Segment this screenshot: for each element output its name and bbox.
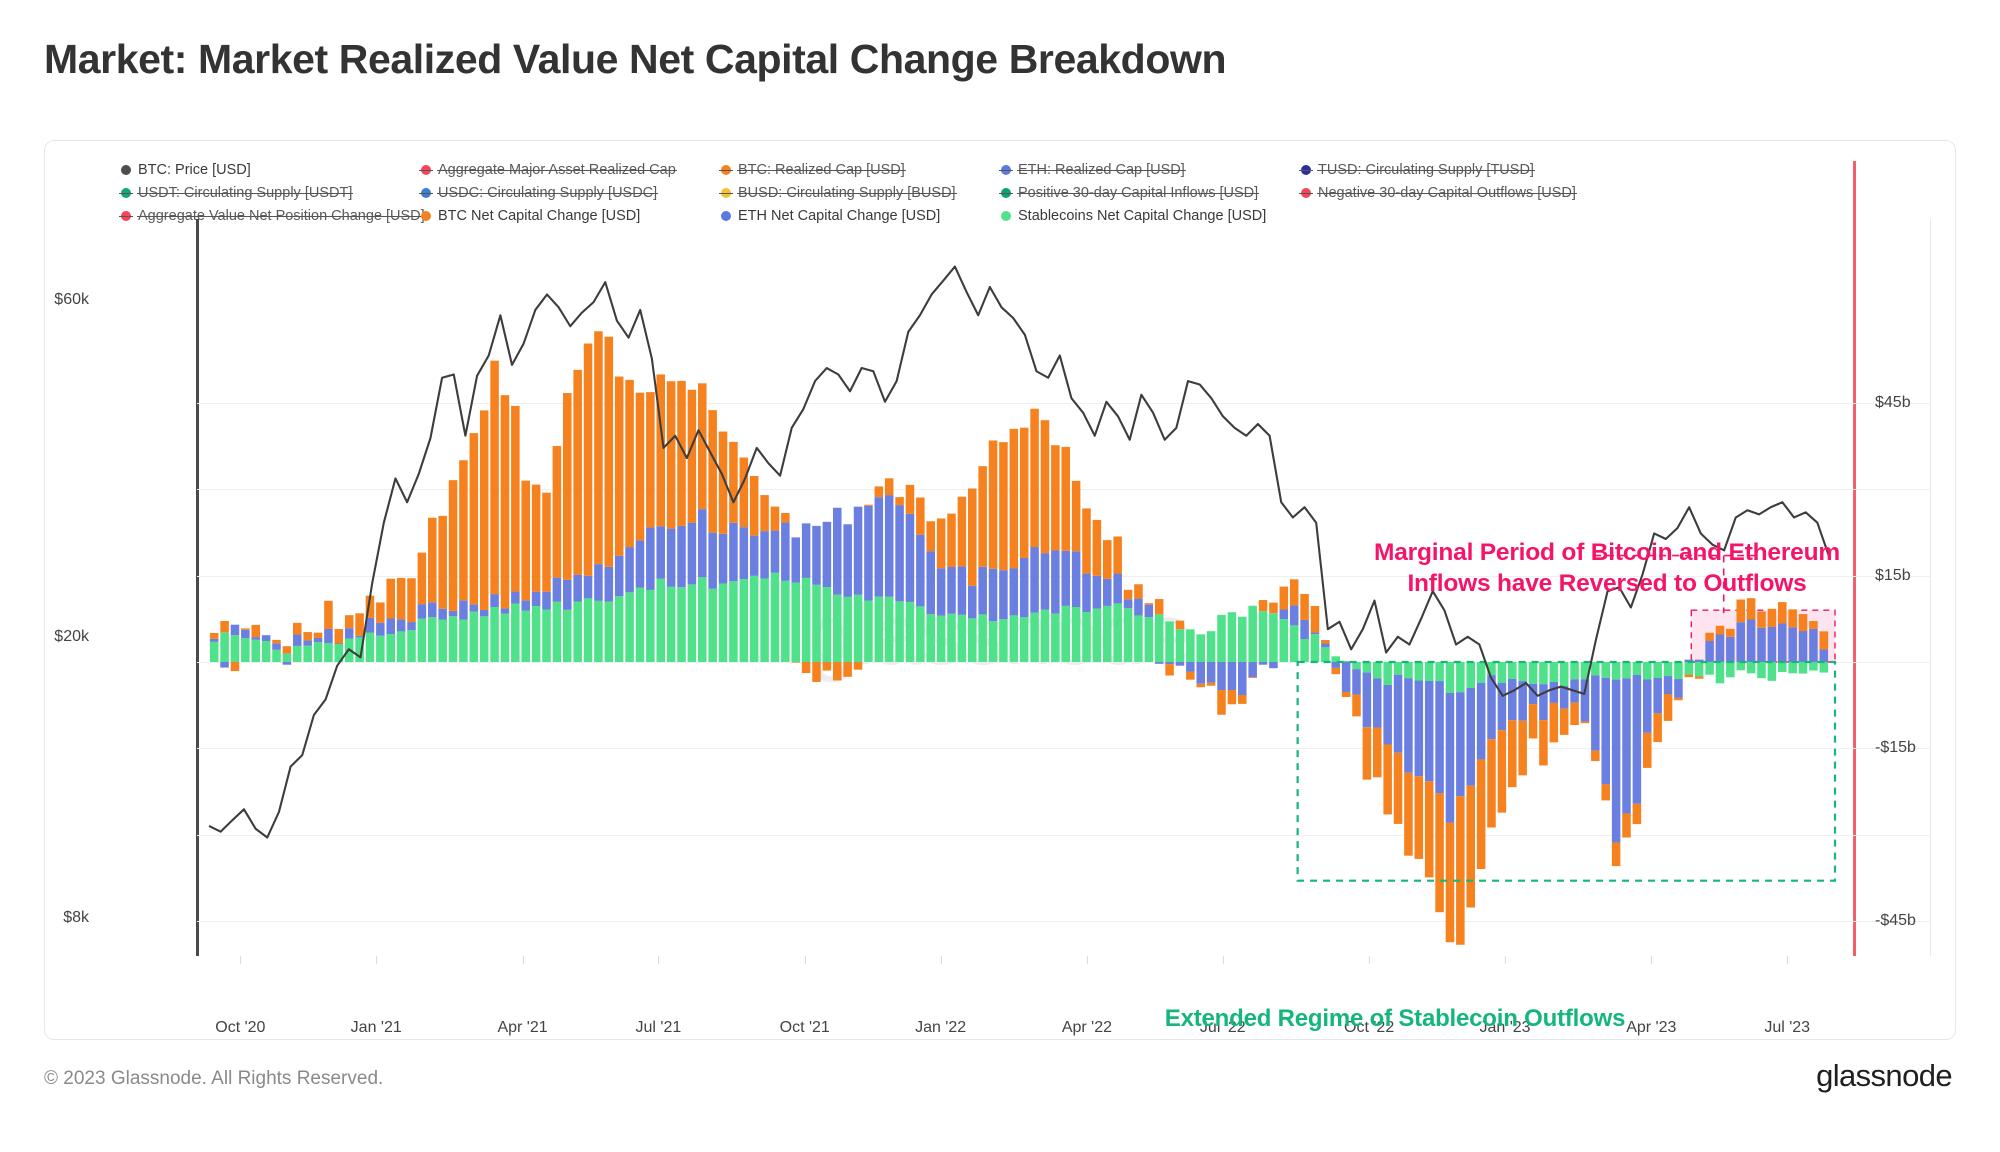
- bar-segment: [1093, 608, 1102, 662]
- bar-segment: [1124, 599, 1133, 608]
- bar-segment: [1155, 599, 1164, 614]
- bar-segment: [906, 485, 915, 514]
- bar-segment: [1010, 568, 1019, 615]
- bar-segment: [532, 592, 541, 606]
- bar-segment: [1487, 739, 1496, 827]
- bar-segment: [397, 631, 406, 662]
- bar-segment: [1591, 675, 1600, 750]
- bar-segment: [324, 601, 333, 629]
- bar-segment: [958, 497, 967, 567]
- bar-segment: [625, 380, 634, 547]
- legend-item-label: USDT: Circulating Supply [USDT]: [138, 185, 352, 201]
- bar-segment: [272, 643, 281, 649]
- bar-segment: [1809, 621, 1818, 629]
- bar-segment: [1311, 606, 1320, 632]
- bar-segment: [1269, 613, 1278, 662]
- bar-segment: [1394, 675, 1403, 753]
- legend-item[interactable]: TUSD: Circulating Supply [TUSD]: [1301, 162, 1534, 178]
- bar-segment: [698, 509, 707, 577]
- bar-segment: [1799, 614, 1808, 631]
- legend-item-label: BTC: Realized Cap [USD]: [738, 162, 905, 178]
- bar-segment: [1321, 647, 1330, 662]
- bar-segment: [1633, 675, 1642, 804]
- x-axis-tick-label: Jan '21: [351, 1019, 402, 1037]
- bar-segment: [386, 579, 395, 619]
- bar-segment: [386, 634, 395, 662]
- bar-segment: [210, 639, 219, 642]
- bar-segment: [729, 581, 738, 662]
- bar-segment: [1601, 784, 1610, 800]
- bar-segment: [823, 587, 832, 662]
- bar-segment: [501, 614, 510, 662]
- bar-segment: [937, 616, 946, 662]
- bar-segment: [584, 576, 593, 599]
- bar-segment: [1228, 612, 1237, 662]
- bar-segment: [885, 495, 894, 597]
- bar-segment: [1259, 662, 1268, 665]
- bar-segment: [594, 601, 603, 662]
- legend-item-label: BTC: Price [USD]: [138, 162, 251, 178]
- bar-segment: [854, 662, 863, 670]
- bar-segment: [303, 632, 312, 640]
- bar-segment: [688, 523, 697, 585]
- bar-segment: [1757, 628, 1766, 662]
- bar-segment: [438, 620, 447, 662]
- bar-segment: [1643, 733, 1652, 768]
- bar-segment: [1196, 634, 1205, 662]
- bar-segment: [1757, 662, 1766, 678]
- legend-item-label: BUSD: Circulating Supply [BUSD]: [738, 185, 956, 201]
- bar-segment: [438, 516, 447, 609]
- bar-segment: [1103, 579, 1112, 606]
- legend-item-label: Aggregate Major Asset Realized Cap: [438, 162, 676, 178]
- pink-annotation: Marginal Period of Bitcoin and Ethereum …: [1307, 537, 1907, 600]
- bar-segment: [293, 635, 302, 646]
- bar-segment: [999, 619, 1008, 662]
- bar-segment: [729, 442, 738, 523]
- bar-segment: [636, 588, 645, 662]
- legend-item-label: ETH: Realized Cap [USD]: [1018, 162, 1185, 178]
- bar-segment: [1113, 603, 1122, 662]
- bar-segment: [511, 603, 520, 662]
- page-title: Market: Market Realized Value Net Capita…: [44, 36, 1226, 83]
- bar-segment: [1041, 420, 1050, 553]
- bar-segment: [791, 662, 800, 663]
- bar-segment: [1145, 605, 1154, 617]
- bar-segment: [1269, 603, 1278, 614]
- bar-segment: [542, 493, 551, 592]
- y-axis-right-tick-label: -$45b: [1875, 912, 1916, 930]
- legend-color-dot: [421, 165, 431, 175]
- bar-segment: [823, 662, 832, 671]
- bar-segment: [1342, 692, 1351, 697]
- bar-segment: [1010, 615, 1019, 662]
- bar-segment: [1674, 679, 1683, 698]
- bar-segment: [906, 514, 915, 602]
- bar-segment: [1695, 676, 1704, 678]
- bar-segment: [1612, 680, 1621, 843]
- bar-segment: [1477, 759, 1486, 869]
- bar-segment: [532, 606, 541, 662]
- bar-segment: [1134, 584, 1143, 598]
- bar-segment: [864, 506, 873, 601]
- y-axis-right-tick-label: -$15b: [1875, 739, 1916, 757]
- bar-segment: [1529, 704, 1538, 738]
- bar-segment: [511, 406, 520, 592]
- bar-segment: [501, 395, 510, 608]
- bar-segment: [293, 623, 302, 635]
- bar-segment: [532, 485, 541, 592]
- bar-segment: [1124, 608, 1133, 662]
- bar-segment: [1030, 547, 1039, 613]
- bar-segment: [916, 498, 925, 535]
- bar-segment: [1051, 445, 1060, 550]
- bar-segment: [511, 592, 520, 604]
- bar-segment: [241, 638, 250, 662]
- bar-segment: [1030, 613, 1039, 662]
- bar-segment: [1404, 662, 1413, 678]
- bar-segment: [1550, 662, 1559, 682]
- legend-item-label: TUSD: Circulating Supply [TUSD]: [1318, 162, 1534, 178]
- bar-segment: [1238, 617, 1247, 662]
- bar-segment: [1685, 662, 1694, 675]
- bar-segment: [303, 646, 312, 662]
- bar-segment: [885, 597, 894, 662]
- bar-segment: [1363, 727, 1372, 779]
- y-axis-left-tick-label: $60k: [54, 291, 89, 309]
- bar-segment: [553, 602, 562, 662]
- bar-segment: [1217, 615, 1226, 662]
- bar-segment: [812, 526, 821, 585]
- bar-segment: [1560, 709, 1569, 735]
- bar-segment: [854, 507, 863, 595]
- bar-segment: [1570, 703, 1579, 725]
- bar-segment: [428, 617, 437, 662]
- bar-segment: [1394, 662, 1403, 675]
- bar-segment: [220, 632, 229, 662]
- bar-segment: [1570, 662, 1579, 679]
- bar-segment: [324, 629, 333, 643]
- bar-segment: [1394, 753, 1403, 824]
- bar-segment: [563, 580, 572, 610]
- green-annotation: Extended Regime of Stablecoin Outflows: [1045, 1005, 1745, 1033]
- bar-segment: [1321, 644, 1330, 648]
- bar-segment: [1124, 590, 1133, 599]
- bar-segment: [272, 650, 281, 662]
- x-axis-tick-label: Oct '21: [780, 1019, 830, 1037]
- bar-segment: [1145, 603, 1154, 605]
- bar-segment: [1030, 409, 1039, 547]
- bar-segment: [781, 522, 790, 580]
- bar-segment: [1664, 694, 1673, 721]
- bar-segment: [1778, 623, 1787, 662]
- bar-segment: [791, 583, 800, 662]
- bar-segment: [760, 495, 769, 531]
- bar-segment: [1736, 662, 1745, 670]
- chart-legend: BTC: Price [USD]Aggregate Major Asset Re…: [121, 158, 1931, 227]
- bar-segment: [1591, 662, 1600, 675]
- bar-segment: [1290, 579, 1299, 605]
- bar-segment: [1550, 682, 1559, 703]
- bar-segment: [1768, 662, 1777, 681]
- bar-segment: [1788, 627, 1797, 662]
- bar-segment: [210, 633, 219, 639]
- bar-segment: [1082, 574, 1091, 612]
- bar-segment: [355, 613, 364, 636]
- bar-segment: [1820, 662, 1829, 673]
- bar-segment: [1425, 781, 1434, 877]
- bar-segment: [1653, 678, 1662, 713]
- bar-segment: [1103, 606, 1112, 662]
- y-axis-right-tick-label: $45b: [1875, 394, 1911, 412]
- bar-segment: [407, 630, 416, 662]
- bar-segment: [501, 608, 510, 613]
- bar-segment: [480, 410, 489, 610]
- bar-segment: [407, 578, 416, 622]
- bar-segment: [1435, 681, 1444, 793]
- bar-segment: [947, 614, 956, 662]
- bar-segment: [667, 529, 676, 587]
- glassnode-logo: glassnode: [1816, 1058, 1952, 1094]
- bar-segment: [1269, 662, 1278, 668]
- bar-segment: [1529, 662, 1538, 684]
- bar-segment: [1736, 600, 1745, 623]
- chart-card: BTC: Price [USD]Aggregate Major Asset Re…: [44, 140, 1956, 1040]
- bar-segment: [1622, 813, 1631, 837]
- bar-segment: [1664, 676, 1673, 694]
- bar-segment: [1082, 508, 1091, 573]
- bar-segment: [708, 533, 717, 589]
- bar-segment: [345, 628, 354, 638]
- bar-segment: [1259, 600, 1268, 611]
- bar-segment: [719, 584, 728, 662]
- y-axis-right-guide: [1930, 219, 1931, 956]
- bar-segment: [1155, 614, 1164, 662]
- bar-segment: [1363, 662, 1372, 673]
- bar-segment: [989, 569, 998, 621]
- bar-segment: [802, 578, 811, 662]
- bar-segment: [656, 579, 665, 662]
- bar-segment: [480, 610, 489, 616]
- bar-segment: [418, 619, 427, 662]
- legend-item[interactable]: BTC: Price [USD]: [121, 162, 251, 178]
- bar-segment: [1705, 641, 1714, 662]
- bar-segment: [1165, 664, 1174, 675]
- bar-segment: [1134, 599, 1143, 616]
- bar-segment: [823, 522, 832, 587]
- bar-segment: [1176, 662, 1185, 666]
- bar-segment: [283, 654, 292, 662]
- bar-segment: [324, 643, 333, 662]
- bar-segment: [1383, 685, 1392, 745]
- bar-segment: [262, 641, 271, 662]
- bar-segment: [926, 551, 935, 614]
- bar-segment: [1061, 606, 1070, 662]
- pink-annotation-line-1: Marginal Period of Bitcoin and Ethereum: [1307, 537, 1907, 568]
- bar-segment: [719, 534, 728, 584]
- bar-segment: [490, 607, 499, 662]
- bar-segment: [1113, 537, 1122, 574]
- bar-segment: [418, 553, 427, 605]
- bar-segment: [314, 633, 323, 638]
- bar-segment: [1768, 627, 1777, 662]
- bar-segment: [1082, 612, 1091, 662]
- x-axis-tick-label: Jan '22: [915, 1019, 966, 1037]
- bar-segment: [1498, 730, 1507, 812]
- legend-item[interactable]: BTC: Realized Cap [USD]: [721, 162, 905, 178]
- legend-item-label: Negative 30-day Capital Outflows [USD]: [1318, 185, 1576, 201]
- bar-segment: [729, 523, 738, 582]
- bar-segment: [355, 636, 364, 637]
- bar-segment: [1435, 793, 1444, 912]
- bar-segment: [1508, 720, 1517, 787]
- bar-segment: [1186, 629, 1195, 662]
- legend-item[interactable]: Negative 30-day Capital Outflows [USD]: [1301, 185, 1576, 201]
- bar-segment: [407, 622, 416, 630]
- bar-segment: [220, 662, 229, 668]
- bar-segment: [926, 614, 935, 662]
- bar-segment: [1207, 683, 1216, 686]
- bar-segment: [1664, 662, 1673, 676]
- bar-segment: [906, 602, 915, 662]
- bar-segment: [1653, 662, 1662, 678]
- bar-segment: [573, 370, 582, 575]
- bar-segment: [1051, 613, 1060, 662]
- bar-segment: [283, 646, 292, 653]
- bar-segment: [376, 623, 385, 636]
- legend-item[interactable]: Aggregate Major Asset Realized Cap: [421, 162, 676, 178]
- bar-segment: [1716, 626, 1725, 635]
- bar-segment: [542, 610, 551, 662]
- bar-segment: [1435, 662, 1444, 681]
- bar-segment: [1176, 621, 1185, 630]
- bar-segment: [397, 578, 406, 619]
- bar-segment: [989, 621, 998, 662]
- legend-row-2: USDT: Circulating Supply [USDT]USDC: Cir…: [121, 181, 1931, 204]
- bar-segment: [470, 433, 479, 604]
- bar-segment: [833, 595, 842, 662]
- bar-segment: [490, 361, 499, 594]
- bar-segment: [1352, 669, 1361, 694]
- bar-segment: [521, 481, 530, 601]
- bar-segment: [740, 527, 749, 579]
- bar-segment: [1466, 786, 1475, 908]
- legend-item[interactable]: BUSD: Circulating Supply [BUSD]: [721, 185, 956, 201]
- bar-segment: [1508, 679, 1517, 720]
- bar-segment: [978, 466, 987, 567]
- bar-segment: [1072, 551, 1081, 607]
- bar-segment: [1331, 668, 1340, 674]
- bar-segment: [397, 619, 406, 631]
- bar-segment: [1072, 481, 1081, 551]
- bar-segment: [646, 392, 655, 527]
- bar-segment: [594, 331, 603, 564]
- bar-segment: [573, 602, 582, 662]
- bar-segment: [895, 505, 904, 601]
- bar-segment: [833, 662, 842, 680]
- legend-color-dot: [121, 188, 131, 198]
- bar-segment: [1591, 751, 1600, 761]
- bar-segment: [646, 590, 655, 662]
- bar-segment: [584, 344, 593, 576]
- bar-segment: [688, 584, 697, 662]
- legend-item[interactable]: Positive 30-day Capital Inflows [USD]: [1001, 185, 1258, 201]
- bar-segment: [750, 576, 759, 662]
- bar-segment: [667, 381, 676, 528]
- bar-segment: [563, 393, 572, 580]
- bar-segment: [449, 480, 458, 611]
- bar-segment: [854, 595, 863, 662]
- bar-segment: [1633, 804, 1642, 824]
- bar-segment: [740, 579, 749, 662]
- bar-segment: [885, 478, 894, 495]
- bar-segment: [231, 625, 240, 635]
- bar-segment: [1404, 678, 1413, 773]
- bar-segment: [542, 592, 551, 610]
- bar-segment: [376, 636, 385, 662]
- legend-color-dot: [1301, 165, 1311, 175]
- bar-segment: [1311, 634, 1320, 662]
- bar-segment: [283, 662, 292, 665]
- bar-segment: [615, 596, 624, 662]
- bar-segment: [968, 488, 977, 585]
- bar-segment: [428, 602, 437, 617]
- bar-segment: [843, 524, 852, 597]
- bar-segment: [646, 527, 655, 590]
- legend-item[interactable]: USDT: Circulating Supply [USDT]: [121, 185, 352, 201]
- bar-segment: [615, 556, 624, 596]
- bar-segment: [231, 635, 240, 662]
- bar-segment: [1425, 681, 1434, 781]
- bar-segment: [1446, 662, 1455, 693]
- bar-segment: [1238, 662, 1247, 695]
- bar-segment: [1685, 675, 1694, 678]
- bar-segment: [1498, 662, 1507, 683]
- bar-segment: [968, 586, 977, 619]
- bar-segment: [636, 393, 645, 541]
- bar-segment: [1601, 678, 1610, 785]
- bar-segment: [1238, 695, 1247, 704]
- legend-item[interactable]: ETH: Realized Cap [USD]: [1001, 162, 1185, 178]
- bar-segment: [1248, 662, 1257, 677]
- bar-segment: [1788, 662, 1797, 673]
- bar-segment: [843, 662, 852, 677]
- bar-segment: [1321, 640, 1330, 644]
- bar-segment: [958, 615, 967, 662]
- bar-segment: [1747, 598, 1756, 619]
- bar-segment: [978, 567, 987, 615]
- bar-segment: [1643, 662, 1652, 679]
- bar-segment: [958, 567, 967, 615]
- bar-segment: [1051, 550, 1060, 613]
- bar-segment: [262, 635, 271, 641]
- legend-color-dot: [721, 165, 731, 175]
- bar-segment: [418, 604, 427, 619]
- legend-color-dot: [1001, 165, 1011, 175]
- bar-segment: [771, 531, 780, 573]
- bar-segment: [1446, 693, 1455, 823]
- bar-segment: [1165, 662, 1174, 664]
- bar-segment: [760, 531, 769, 578]
- bar-segment: [241, 628, 250, 629]
- legend-item[interactable]: USDC: Circulating Supply [USDC]: [421, 185, 657, 201]
- bar-segment: [1228, 690, 1237, 704]
- bar-segment: [335, 629, 344, 643]
- bar-segment: [1633, 662, 1642, 675]
- bar-segment: [1581, 722, 1590, 724]
- bar-segment: [1425, 662, 1434, 681]
- bar-segment: [314, 638, 323, 642]
